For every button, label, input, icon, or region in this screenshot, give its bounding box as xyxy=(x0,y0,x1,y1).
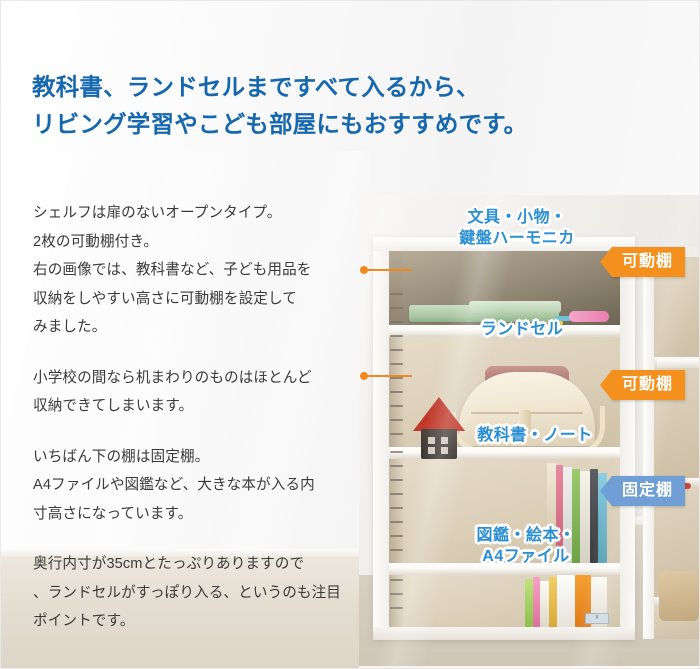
callout-leader-line-1 xyxy=(364,269,412,271)
label-line: A4ファイル xyxy=(457,546,595,567)
p1-line-2: 2枚の可動棚付き。 xyxy=(33,228,363,257)
house-moneybox xyxy=(413,397,465,459)
paragraph-3: いちばん下の棚は固定棚。 A4ファイルや図鑑など、大きな本が入る内 寸高さになっ… xyxy=(33,443,363,529)
cabinet-base-panel xyxy=(373,627,635,640)
house-body xyxy=(421,429,457,459)
product-feature-page: 教科書、ランドセルまですべて入るから、 リビング学習やこども部屋にもおすすめです… xyxy=(0,0,700,669)
house-window xyxy=(441,437,448,444)
tag-label: 可動棚 xyxy=(622,376,673,393)
secondary-book xyxy=(657,359,699,368)
paragraph-2: 小学校の間なら机まわりのものはほとんど 収納できてしまいます。 xyxy=(33,364,363,421)
p2-line-1: 小学校の間なら机まわりのものはほとんど xyxy=(33,364,363,393)
melodica-case-top xyxy=(469,301,561,313)
label-line: 鍵盤ハーモニカ xyxy=(417,228,617,249)
picture-book xyxy=(533,577,540,627)
p1-line-5: みました。 xyxy=(33,313,363,342)
paragraph-4: 奥行内寸が35cmとたっぷりありますので 、ランドセルがすっぽり入る、というのも… xyxy=(33,550,363,636)
content-label-backpack: ランドセル xyxy=(457,319,587,340)
picture-book xyxy=(549,577,557,627)
p1-line-3: 右の画像では、教科書など、子ども用品を xyxy=(33,256,363,285)
callout-dot-icon xyxy=(360,266,368,274)
p3-line-3: 寸高さになっています。 xyxy=(33,500,363,529)
p3-line-2: A4ファイルや図鑑など、大きな本が入る内 xyxy=(33,471,363,500)
label-line: 図鑑・絵本・ xyxy=(457,525,595,546)
tag-arrow-icon xyxy=(600,247,612,277)
page-headline: 教科書、ランドセルまですべて入るから、 リビング学習やこども部屋にもおすすめです… xyxy=(32,69,672,143)
tag-arrow-icon xyxy=(600,476,612,506)
label-line: ランドセル xyxy=(457,319,587,340)
reference-book xyxy=(557,575,575,627)
open-shelf-product-photo: ¥ 文具・小 xyxy=(359,195,699,666)
content-label-picture-books: 図鑑・絵本・ A4ファイル xyxy=(457,525,595,567)
secondary-cabinet xyxy=(643,247,699,639)
house-roof xyxy=(413,397,465,431)
callout-dot-icon xyxy=(360,372,368,380)
p3-line-1: いちばん下の棚は固定棚。 xyxy=(33,443,363,472)
p1-line-4: 収納をしやすい高さに可動棚を設定して xyxy=(33,285,363,314)
cabinet-right-panel xyxy=(620,237,635,640)
callout-leader-line-2 xyxy=(364,375,412,377)
tag-label: 固定棚 xyxy=(622,482,673,499)
secondary-storage-bag xyxy=(659,571,699,621)
house-window xyxy=(428,447,435,454)
price-tag: ¥ xyxy=(585,613,609,624)
shelf-tag-fixed: 固定棚 xyxy=(612,476,685,506)
cabinet-left-panel xyxy=(373,237,389,640)
p4-line-3: ポイントです。 xyxy=(33,607,363,636)
p4-line-1: 奥行内寸が35cmとたっぷりありますので xyxy=(33,550,363,579)
headline-line-1: 教科書、ランドセルまですべて入るから、 xyxy=(32,69,672,106)
content-label-stationery: 文具・小物・ 鍵盤ハーモニカ xyxy=(417,207,617,249)
headline-line-2: リビング学習やこども部屋にもおすすめです。 xyxy=(32,106,672,143)
picture-book xyxy=(525,579,533,627)
p1-line-1: シェルフは扉のないオープンタイプ。 xyxy=(33,199,363,228)
picture-book xyxy=(540,581,549,627)
paragraph-1: シェルフは扉のないオープンタイプ。 2枚の可動棚付き。 右の画像では、教科書など… xyxy=(33,199,363,342)
tag-label: 可動棚 xyxy=(622,253,673,270)
p2-line-2: 収納できてしまいます。 xyxy=(33,392,363,421)
house-window xyxy=(441,447,448,454)
tag-arrow-icon xyxy=(600,370,612,400)
shelf-peg-holes xyxy=(389,293,404,623)
p4-line-2: 、ランドセルがすっぽり入る、というのも注目 xyxy=(33,579,363,608)
body-copy: シェルフは扉のないオープンタイプ。 2枚の可動棚付き。 右の画像では、教科書など… xyxy=(33,199,363,636)
content-label-textbooks: 教科書・ノート xyxy=(459,425,611,446)
house-window xyxy=(428,437,435,444)
shelf-tag-adjustable-2: 可動棚 xyxy=(612,370,685,400)
label-line: 教科書・ノート xyxy=(459,425,611,446)
shelf-tag-adjustable-1: 可動棚 xyxy=(612,247,685,277)
secondary-cabinet-frame xyxy=(643,247,654,639)
label-line: 文具・小物・ xyxy=(417,207,617,228)
